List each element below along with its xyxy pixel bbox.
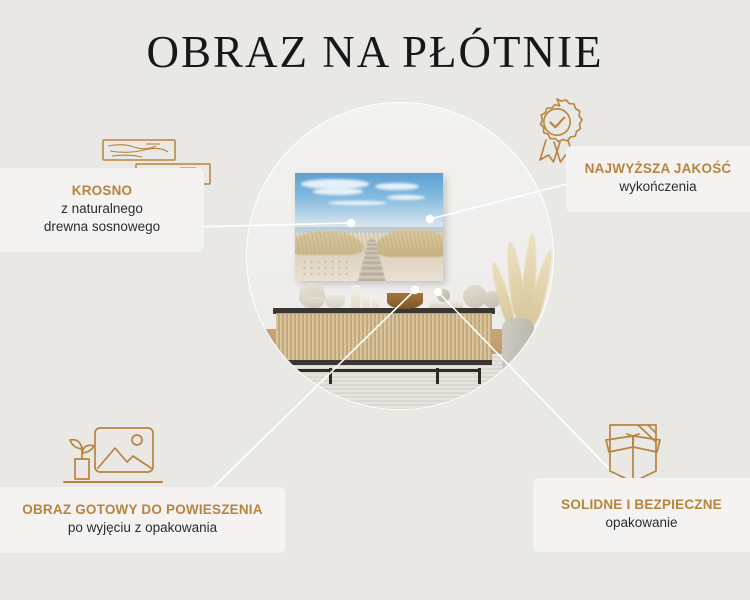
- feature-box-opakowanie[interactable]: SOLIDNE I BEZPIECZNE opakowanie: [533, 478, 750, 552]
- room-scene: [247, 103, 553, 409]
- sideboard: [273, 308, 495, 370]
- sideboard-base: [276, 360, 492, 365]
- decor-bowl: [325, 295, 345, 308]
- feature-box-krosno[interactable]: KROSNO z naturalnego drewna sosnowego: [0, 168, 204, 252]
- feature-title-opakowanie: SOLIDNE I BEZPIECZNE: [561, 497, 722, 514]
- feature-subtitle-krosno-line2: drewna sosnowego: [44, 218, 160, 236]
- decor-books: [429, 301, 463, 308]
- decor-bowl: [307, 297, 324, 308]
- decor-wooden-bowl: [387, 293, 423, 309]
- decor-candle: [351, 285, 360, 308]
- feature-title-gotowy: OBRAZ GOTOWY DO POWIESZENIA: [22, 502, 262, 519]
- page-title: OBRAZ NA PŁÓTNIE: [0, 26, 750, 78]
- poster-stage: OBRAZ NA PŁÓTNIE: [0, 0, 750, 600]
- floor-vase: [502, 318, 534, 393]
- footprints: [301, 259, 351, 278]
- feature-title-krosno: KROSNO: [72, 183, 132, 200]
- hero-room-photo: [247, 103, 553, 409]
- feature-subtitle-gotowy: po wyjęciu z opakowania: [68, 519, 217, 537]
- framed-picture-icon: [62, 424, 166, 492]
- decor-candle: [372, 296, 379, 308]
- feature-subtitle-jakosc: wykończenia: [619, 178, 696, 196]
- canvas-artwork: [295, 173, 443, 281]
- cloud: [387, 195, 425, 200]
- cloud: [313, 188, 363, 194]
- feature-subtitle-krosno-line1: z naturalnego: [61, 200, 143, 218]
- decor-sphere: [437, 289, 450, 302]
- sideboard-body: [276, 313, 492, 362]
- decor-candle: [362, 293, 370, 308]
- feature-subtitle-opakowanie: opakowanie: [605, 514, 677, 532]
- feature-title-jakosc: NAJWYŻSZA JAKOŚĆ: [585, 161, 732, 178]
- sideboard-leg-bar: [287, 369, 481, 372]
- feature-box-jakosc[interactable]: NAJWYŻSZA JAKOŚĆ wykończenia: [566, 146, 750, 212]
- feature-box-gotowy[interactable]: OBRAZ GOTOWY DO POWIESZENIA po wyjęciu z…: [0, 487, 285, 553]
- parcel-box-icon: [596, 419, 670, 485]
